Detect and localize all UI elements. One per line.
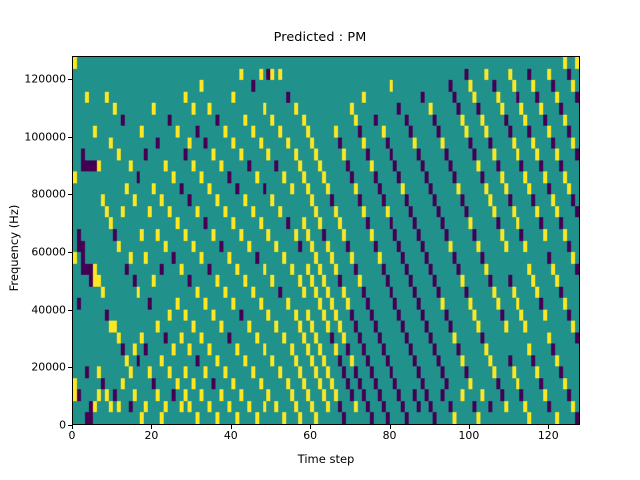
heatmap-image [73, 57, 579, 424]
x-tick-label: 60 [303, 429, 317, 442]
heatmap-axes[interactable] [72, 56, 580, 425]
y-tick-label: 0 [2, 419, 66, 432]
x-axis-label: Time step [72, 452, 580, 466]
x-tick-label: 0 [69, 429, 76, 442]
y-tick-label: 20000 [2, 361, 66, 374]
y-tick-mark [68, 137, 72, 138]
y-tick-mark [68, 310, 72, 311]
y-tick-mark [68, 367, 72, 368]
y-tick-label: 100000 [2, 130, 66, 143]
x-tick-label: 40 [224, 429, 238, 442]
y-tick-label: 120000 [2, 73, 66, 86]
y-axis-label: Frequency (Hz) [7, 148, 21, 348]
chart-title: Predicted : PM [0, 30, 640, 45]
x-tick-label: 120 [538, 429, 559, 442]
x-tick-label: 20 [144, 429, 158, 442]
x-tick-label: 80 [383, 429, 397, 442]
figure-canvas: Predicted : PM 0200004000060000800001000… [0, 0, 640, 480]
x-tick-label: 100 [458, 429, 479, 442]
y-tick-mark [68, 194, 72, 195]
y-tick-mark [68, 79, 72, 80]
y-tick-mark [68, 252, 72, 253]
